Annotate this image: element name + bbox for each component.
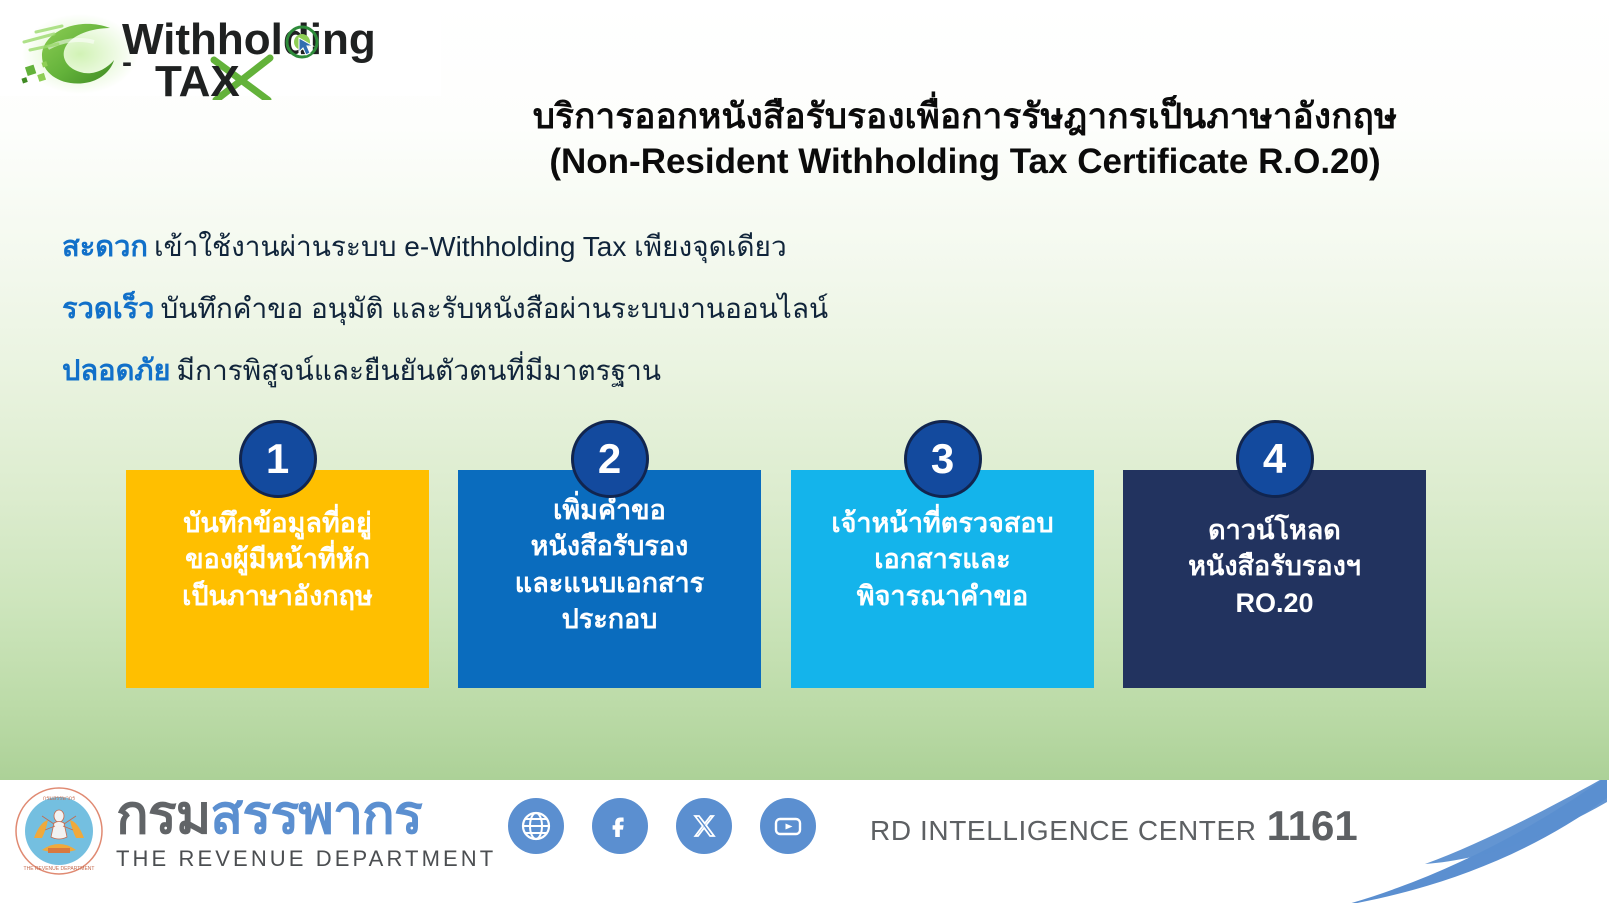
youtube-glyph	[771, 809, 805, 843]
step-2: 2 เพิ่มคำขอ หนังสือรับรอง และแนบเอกสาร ป…	[458, 420, 761, 688]
svg-text:กรมสรรพากร: กรมสรรพากร	[43, 795, 75, 802]
footer-bar: กรมสรรพากร THE REVENUE DEPARTMENT กรมสรร…	[0, 780, 1609, 903]
logo-hyphen: -	[122, 46, 132, 79]
facebook-icon[interactable]	[592, 798, 648, 854]
benefit-keyword: รวดเร็ว	[62, 293, 154, 325]
benefit-item: รวดเร็วบันทึกคำขอ อนุมัติ และรับหนังสือผ…	[62, 278, 1162, 340]
benefit-keyword: ปลอดภัย	[62, 355, 171, 387]
rd-intelligence-center: RD INTELLIGENCE CENTER1161	[870, 802, 1358, 850]
step-4-label: ดาวน์โหลด หนังสือรับรองฯ RO.20	[1123, 512, 1426, 621]
step-4: 4 ดาวน์โหลด หนังสือรับรองฯ RO.20	[1123, 420, 1426, 688]
call-center-label: RD INTELLIGENCE CENTER	[870, 815, 1257, 846]
step-1-number-badge: 1	[239, 420, 317, 498]
title-english: (Non-Resident Withholding Tax Certificat…	[330, 141, 1600, 184]
step-3-line: เจ้าหน้าที่ตรวจสอบ	[797, 505, 1088, 541]
x-twitter-icon[interactable]	[676, 798, 732, 854]
step-4-line: หนังสือรับรองฯ	[1129, 548, 1420, 584]
benefit-text: มีการพิสูจน์และยืนยันตัวตนที่มีมาตรฐาน	[177, 355, 661, 386]
benefit-item: สะดวกเข้าใช้งานผ่านระบบ e-Withholding Ta…	[62, 216, 1162, 278]
social-links	[508, 798, 816, 854]
step-3-line: พิจารณาคำขอ	[797, 578, 1088, 614]
swoosh-decoration	[1329, 780, 1609, 903]
org-name-thai-part2: สรรพากร	[210, 785, 422, 845]
org-name-thai-part1: กรม	[116, 785, 210, 845]
step-1-label: บันทึกข้อมูลที่อยู่ ของผู้มีหน้าที่หัก เ…	[126, 505, 429, 614]
step-3-label: เจ้าหน้าที่ตรวจสอบ เอกสารและ พิจารณาคำขอ	[791, 505, 1094, 614]
page-title: บริการออกหนังสือรับรองเพื่อการรัษฎากรเป็…	[330, 96, 1600, 183]
x-glyph	[687, 809, 721, 843]
benefit-text: บันทึกคำขอ อนุมัติ และรับหนังสือผ่านระบบ…	[160, 293, 828, 324]
step-1: 1 บันทึกข้อมูลที่อยู่ ของผู้มีหน้าที่หัก…	[126, 420, 429, 688]
benefit-text: เข้าใช้งานผ่านระบบ e-Withholding Tax เพี…	[154, 231, 787, 262]
facebook-glyph	[603, 809, 637, 843]
infographic-poster: Withholding TAX - บริการออกหนังสือรับรอง…	[0, 0, 1609, 903]
revenue-department-seal: กรมสรรพากร THE REVENUE DEPARTMENT	[14, 786, 104, 876]
process-steps: 1 บันทึกข้อมูลที่อยู่ ของผู้มีหน้าที่หัก…	[0, 420, 1609, 690]
step-1-line: บันทึกข้อมูลที่อยู่	[132, 505, 423, 541]
e-withholding-tax-logo: Withholding TAX -	[18, 8, 438, 100]
benefit-item: ปลอดภัยมีการพิสูจน์และยืนยันตัวตนที่มีมา…	[62, 340, 1162, 402]
benefit-keyword: สะดวก	[62, 231, 148, 263]
step-1-line: ของผู้มีหน้าที่หัก	[132, 541, 423, 577]
step-3-number-badge: 3	[904, 420, 982, 498]
step-4-line: RO.20	[1129, 585, 1420, 621]
step-4-number-badge: 4	[1236, 420, 1314, 498]
youtube-icon[interactable]	[760, 798, 816, 854]
step-2-number-badge: 2	[571, 420, 649, 498]
logo-svg: Withholding TAX -	[18, 8, 438, 100]
step-4-line: ดาวน์โหลด	[1129, 512, 1420, 548]
step-2-line: หนังสือรับรอง	[464, 528, 755, 564]
revenue-department-wordmark: กรมสรรพากร THE REVENUE DEPARTMENT	[116, 786, 476, 878]
step-2-label: เพิ่มคำขอ หนังสือรับรอง และแนบเอกสาร ประ…	[458, 492, 761, 638]
step-2-line: ประกอบ	[464, 601, 755, 637]
org-name-english: THE REVENUE DEPARTMENT	[116, 844, 476, 874]
globe-glyph	[519, 809, 553, 843]
step-3: 3 เจ้าหน้าที่ตรวจสอบ เอกสารและ พิจารณาคำ…	[791, 420, 1094, 688]
logo-plate: Withholding TAX -	[0, 0, 441, 96]
title-thai: บริการออกหนังสือรับรองเพื่อการรัษฎากรเป็…	[330, 96, 1600, 139]
step-1-line: เป็นภาษาอังกฤษ	[132, 578, 423, 614]
benefits-list: สะดวกเข้าใช้งานผ่านระบบ e-Withholding Ta…	[62, 216, 1162, 402]
org-name-thai: กรมสรรพากร	[116, 786, 476, 844]
logo-word-tax: TAX	[155, 57, 240, 100]
step-3-line: เอกสารและ	[797, 541, 1088, 577]
website-icon[interactable]	[508, 798, 564, 854]
step-2-line: และแนบเอกสาร	[464, 565, 755, 601]
svg-text:THE REVENUE DEPARTMENT: THE REVENUE DEPARTMENT	[24, 866, 95, 872]
